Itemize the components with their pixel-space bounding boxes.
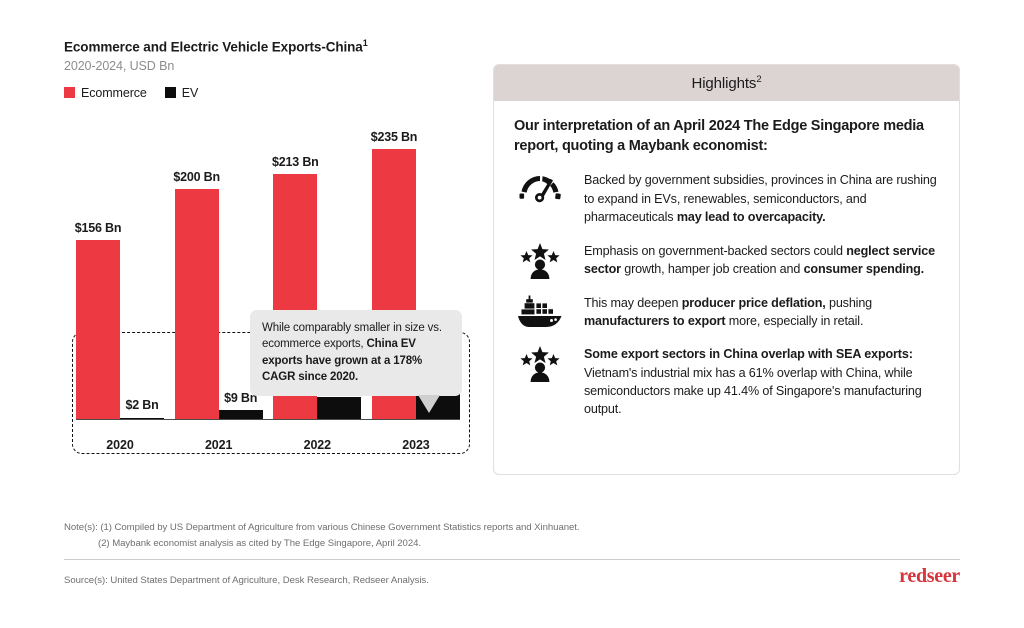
chart-title-footnote-marker: 1: [363, 38, 368, 48]
legend-swatch-ev: [165, 87, 176, 98]
highlight-seg: pushing: [826, 296, 872, 310]
bar-label-ecommerce-2021: $200 Bn: [173, 170, 220, 184]
legend-swatch-ecommerce: [64, 87, 75, 98]
person-stars-icon: [510, 344, 570, 382]
chart-plot-area: $156 Bn $2 Bn $200 Bn $9 Bn: [64, 110, 472, 478]
highlight-seg: Emphasis on government-backed sectors co…: [584, 244, 846, 258]
slide-root: Ecommerce and Electric Vehicle Exports-C…: [0, 0, 1024, 628]
bar-label-ecommerce-2022: $213 Bn: [272, 155, 319, 169]
bar-label-ev-2020: $2 Bn: [125, 398, 158, 412]
highlight-seg-bold: manufacturers to export: [584, 314, 725, 328]
highlights-header: Highlights2: [494, 65, 959, 101]
legend-item-ecommerce[interactable]: Ecommerce: [64, 86, 147, 100]
footnote-2: (2) Maybank economist analysis as cited …: [64, 536, 960, 552]
bar-ecommerce-2020[interactable]: [76, 240, 120, 420]
highlights-footnote-marker: 2: [756, 74, 761, 85]
chart-panel: Ecommerce and Electric Vehicle Exports-C…: [64, 38, 472, 478]
highlight-seg: Vietnam's industrial mix has a 61% overl…: [584, 366, 922, 417]
chart-subtitle: 2020-2024, USD Bn: [64, 59, 472, 73]
highlights-body: Our interpretation of an April 2024 The …: [494, 101, 959, 443]
footer: Note(s): (1) Compiled by US Department o…: [64, 520, 960, 586]
bar-wrap-ev-2020: $2 Bn: [120, 130, 164, 420]
chart-title: Ecommerce and Electric Vehicle Exports-C…: [64, 38, 472, 55]
highlight-seg-bold: consumer spending.: [804, 262, 924, 276]
x-axis-label-2020: 2020: [76, 438, 164, 452]
source-row: Source(s): United States Department of A…: [64, 566, 960, 586]
chart-callout-tooltip: While comparably smaller in size vs. eco…: [250, 310, 462, 396]
chart-x-axis: 2020 2021 2022 2023: [76, 438, 460, 452]
chart-legend: Ecommerce EV: [64, 86, 472, 100]
footnotes: Note(s): (1) Compiled by US Department o…: [64, 520, 960, 553]
highlight-item: Some export sectors in China overlap wit…: [510, 344, 939, 419]
highlight-seg: This may deepen: [584, 296, 682, 310]
highlight-item: Emphasis on government-backed sectors co…: [510, 241, 939, 279]
highlight-text: Some export sectors in China overlap wit…: [584, 344, 939, 419]
x-axis-label-2022: 2022: [273, 438, 361, 452]
chart-title-text: Ecommerce and Electric Vehicle Exports-C…: [64, 40, 363, 55]
highlights-header-text: Highlights: [691, 75, 756, 92]
cargo-ship-icon: [510, 293, 570, 329]
highlight-item: This may deepen producer price deflation…: [510, 293, 939, 331]
bar-label-ecommerce-2020: $156 Bn: [75, 221, 122, 235]
person-stars-icon: [510, 241, 570, 279]
callout-tail: [418, 395, 440, 413]
x-axis-label-2021: 2021: [175, 438, 263, 452]
highlights-panel: Highlights2 Our interpretation of an Apr…: [493, 64, 960, 475]
bar-ecommerce-2021[interactable]: [175, 189, 219, 420]
highlight-seg-bold: Some export sectors in China overlap wit…: [584, 347, 913, 361]
gauge-icon: [510, 170, 570, 206]
legend-label-ecommerce: Ecommerce: [81, 86, 147, 100]
bar-label-ecommerce-2023: $235 Bn: [371, 130, 418, 144]
highlight-text: Emphasis on government-backed sectors co…: [584, 241, 939, 279]
highlight-item: Backed by government subsidies, province…: [510, 170, 939, 226]
footer-divider: [64, 559, 960, 560]
redseer-logo: redseer: [899, 566, 960, 586]
x-axis-label-2023: 2023: [372, 438, 460, 452]
footnote-1: Note(s): (1) Compiled by US Department o…: [64, 522, 580, 533]
bar-ev-2022[interactable]: [317, 397, 361, 420]
chart-baseline: [76, 419, 460, 420]
legend-label-ev: EV: [182, 86, 198, 100]
highlight-seg: more, especially in retail.: [725, 314, 863, 328]
highlights-intro: Our interpretation of an April 2024 The …: [510, 117, 939, 156]
bar-wrap-ecommerce-2021: $200 Bn: [175, 130, 219, 420]
bar-wrap-ecommerce-2020: $156 Bn: [76, 130, 120, 420]
highlight-text: Backed by government subsidies, province…: [584, 170, 939, 226]
highlight-seg-bold: producer price deflation,: [682, 296, 826, 310]
source-text: Source(s): United States Department of A…: [64, 575, 429, 586]
legend-item-ev[interactable]: EV: [165, 86, 198, 100]
highlight-seg: growth, hamper job creation and: [621, 262, 804, 276]
highlights-header-title: Highlights2: [691, 74, 761, 92]
highlight-text: This may deepen producer price deflation…: [584, 293, 939, 331]
highlight-seg-bold: may lead to overcapacity.: [677, 210, 826, 224]
bar-group-2020: $156 Bn $2 Bn: [76, 130, 164, 420]
